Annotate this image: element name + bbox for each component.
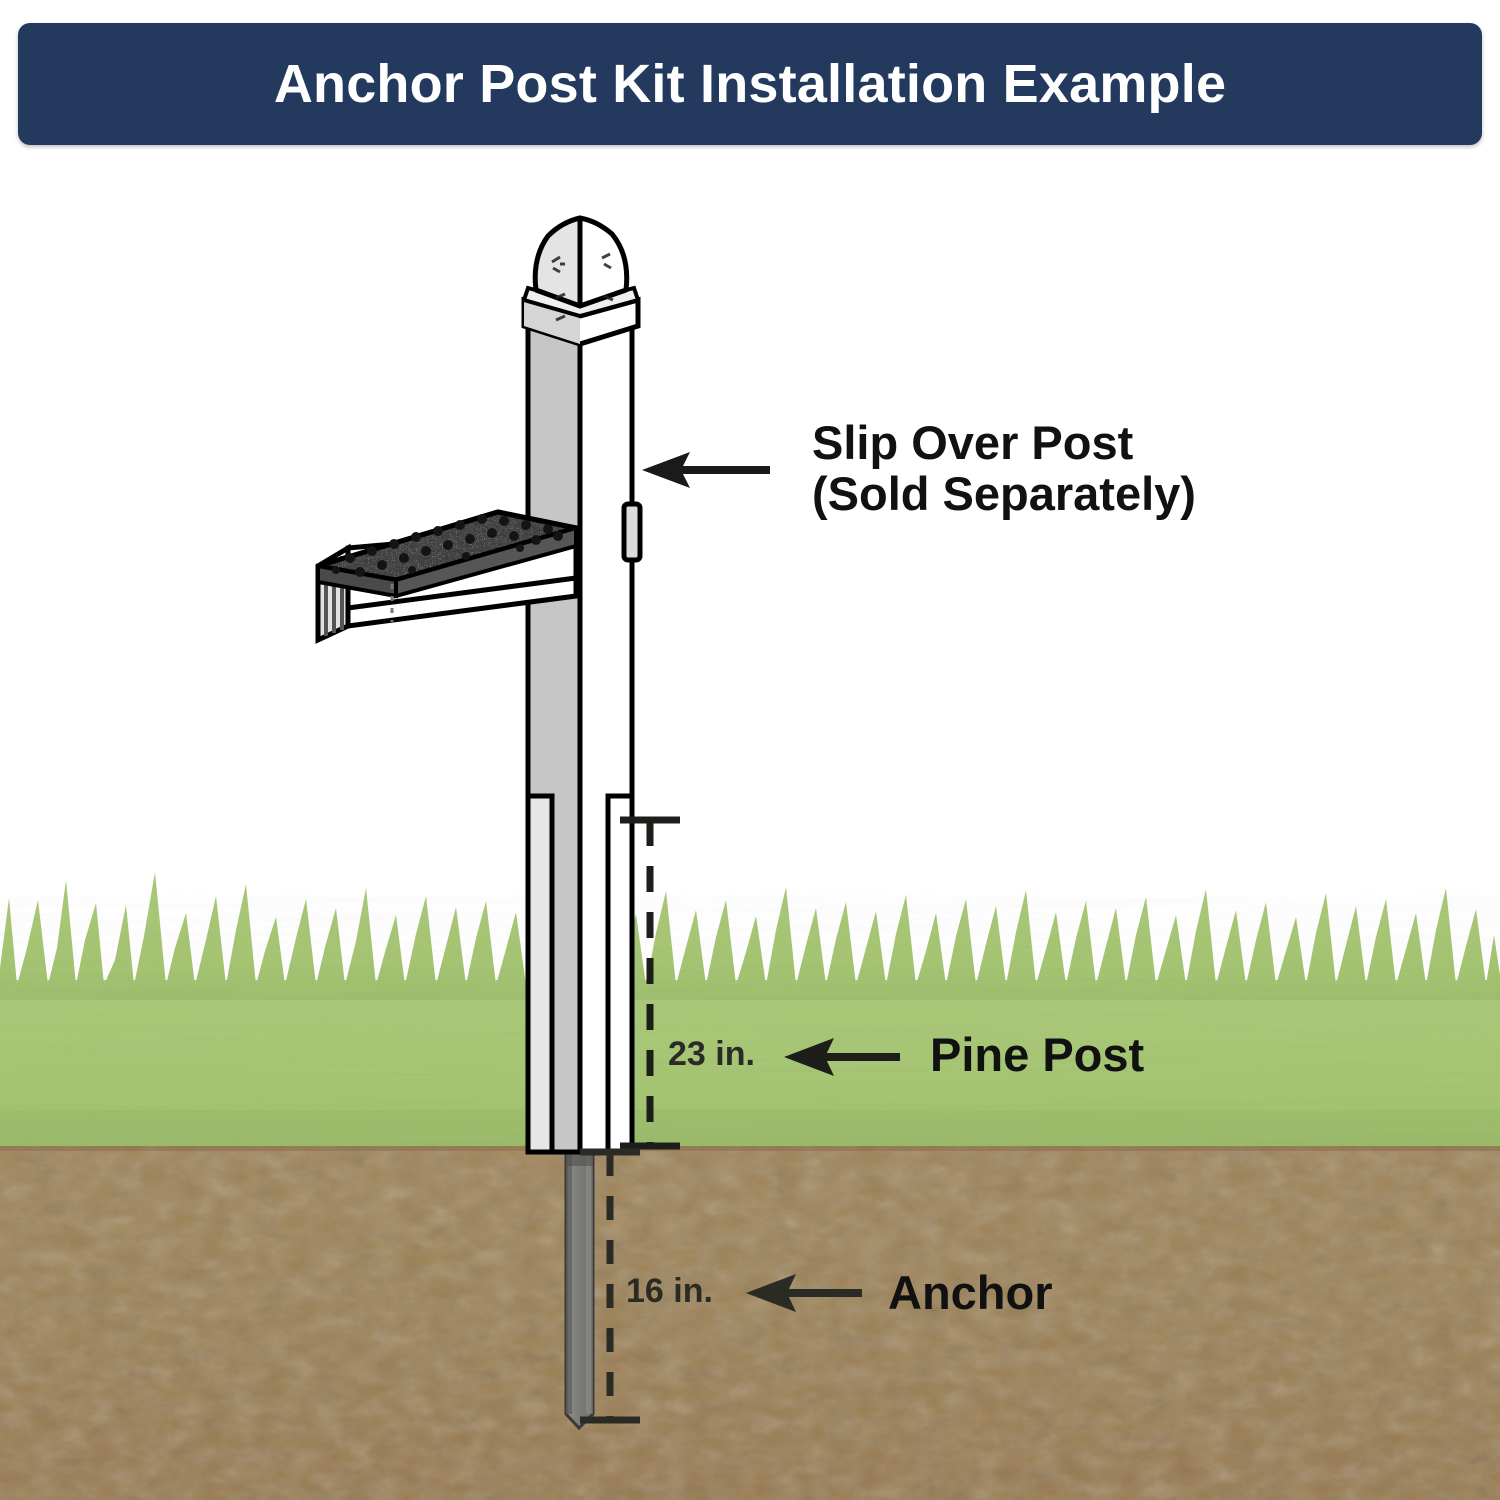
illustration-canvas: Anchor Post Kit Installation Example Sli…	[0, 0, 1500, 1500]
label-pine-post: Pine Post	[930, 1030, 1144, 1081]
leader-arrow-slip-over-post	[642, 452, 770, 488]
dimension-label-anchor: 16 in.	[626, 1272, 713, 1311]
label-anchor: Anchor	[888, 1268, 1053, 1319]
slip-over-post	[528, 318, 640, 1152]
label-slip-over-post: Slip Over Post (Sold Separately)	[812, 418, 1196, 520]
label-slip-over-post-line1: Slip Over Post	[812, 416, 1133, 469]
page-title: Anchor Post Kit Installation Example	[274, 57, 1226, 111]
soil-layer	[0, 1145, 1500, 1500]
ground-anchor	[566, 1152, 593, 1428]
dimension-label-pine-post: 23 in.	[668, 1035, 755, 1074]
post-cap	[524, 218, 638, 344]
title-banner: Anchor Post Kit Installation Example	[18, 23, 1482, 145]
grass-layer	[0, 872, 1500, 1146]
installation-diagram	[0, 0, 1500, 1500]
label-slip-over-post-line2: (Sold Separately)	[812, 469, 1196, 520]
